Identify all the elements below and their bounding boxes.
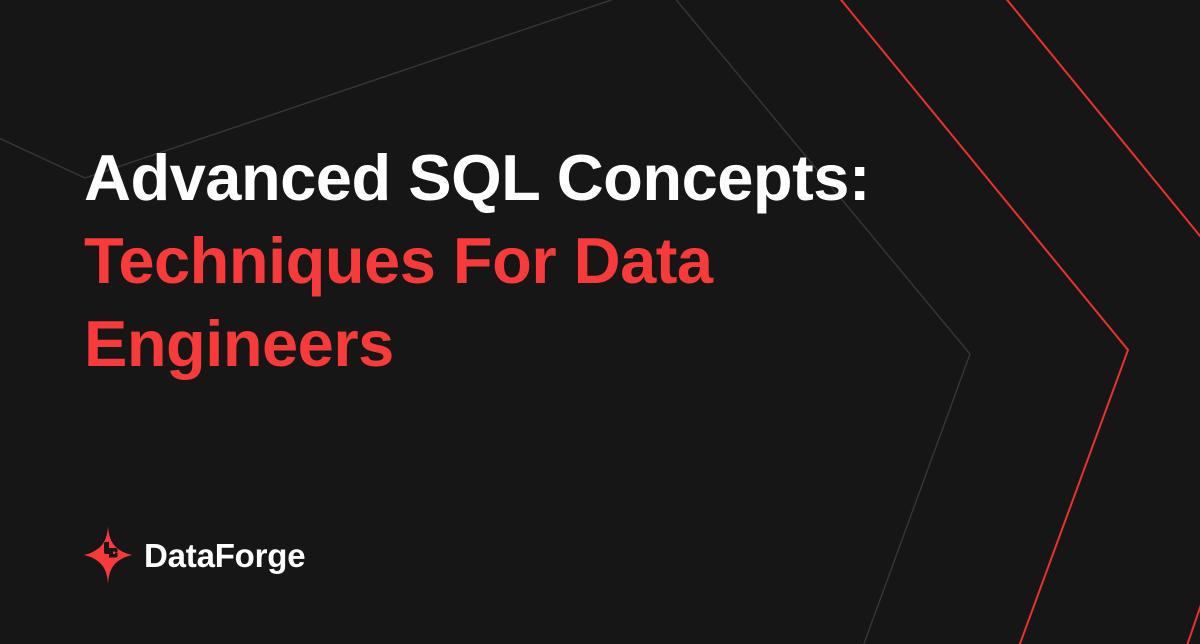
four-point-star-icon — [84, 526, 132, 584]
page-title-line-3: Engineers — [84, 302, 924, 385]
page-title-line-1: Advanced SQL Concepts: — [84, 136, 924, 219]
social-banner-card: Advanced SQL Concepts: Techniques For Da… — [0, 0, 1200, 644]
red-chevron-inner-line — [999, 0, 1200, 644]
page-title: Advanced SQL Concepts: Techniques For Da… — [84, 136, 924, 385]
brand-wordmark: DataForge — [144, 539, 305, 572]
brand-logo-lockup: DataForge — [84, 524, 305, 586]
page-title-line-2: Techniques For Data — [84, 219, 924, 302]
